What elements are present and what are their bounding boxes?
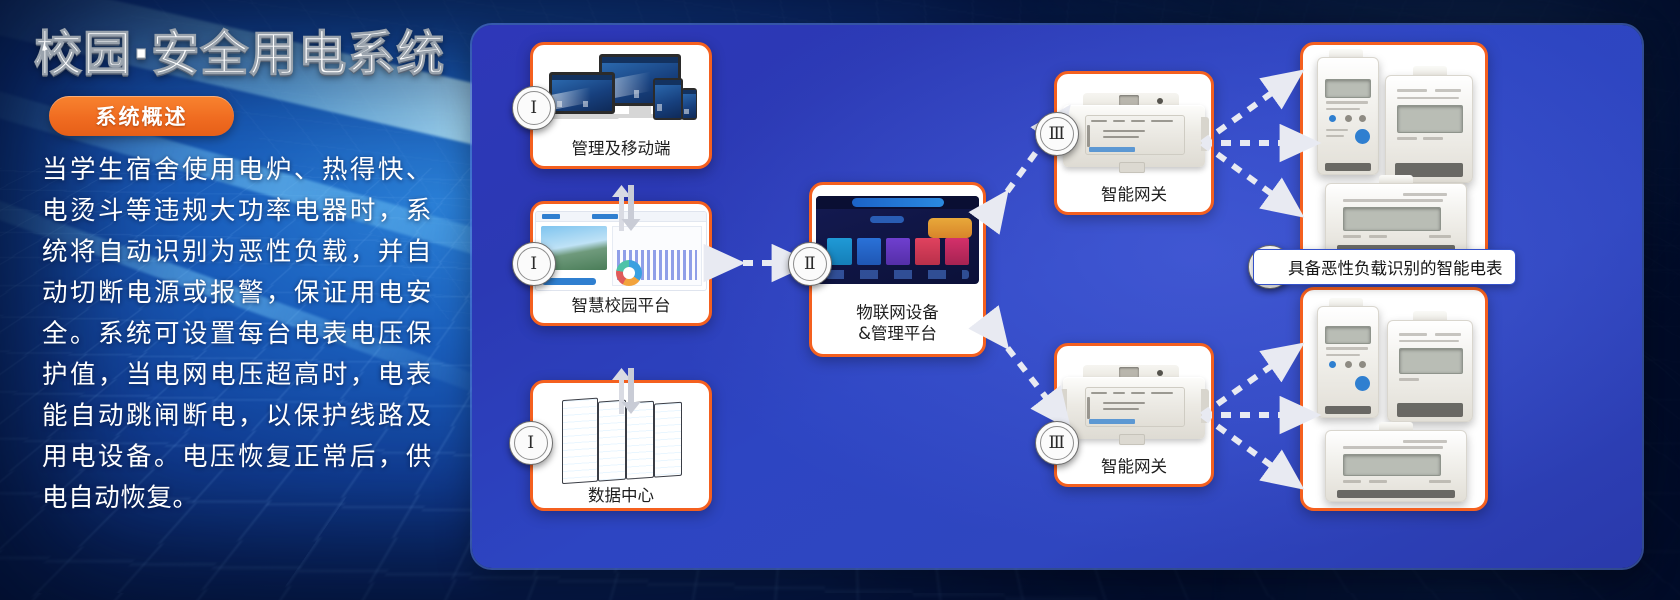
node-label: 管理及移动端 [533,138,709,159]
bidirectional-arrow-icon [610,368,644,414]
iot-dashboard-icon [812,185,983,288]
step-badge-i: Ⅰ [512,242,556,286]
node-label: 物联网设备 &管理平台 [812,302,983,344]
node-management-mobile[interactable]: 管理及移动端 [530,42,712,169]
smart-meter-note-label: 具备恶性负载识别的智能电表 [1288,255,1503,279]
smart-meter-note[interactable]: 具备恶性负载识别的智能电表 [1253,249,1516,285]
step-badge-iii: Ⅲ [1035,421,1079,465]
node-label: 智能网关 [1057,456,1211,477]
smart-meter-icon [1303,290,1485,508]
section-badge: 系统概述 [49,96,234,136]
node-smart-gateway-bottom[interactable]: 智能网关 [1054,343,1214,487]
node-smart-meters-top[interactable] [1300,42,1488,265]
step-badge-ii: Ⅱ [788,242,832,286]
step-badge-i: Ⅰ [512,86,556,130]
smart-meter-icon [1303,45,1485,262]
smart-gateway-icon [1057,346,1211,454]
smart-gateway-icon [1057,74,1211,182]
bidirectional-arrow-icon [610,185,644,231]
node-label: 数据中心 [533,485,709,506]
step-badge-iii: Ⅲ [1035,112,1079,156]
node-iot-platform[interactable]: 物联网设备 &管理平台 [809,182,986,357]
architecture-diagram-panel: 管理及移动端 Ⅰ [472,25,1642,568]
node-label: 智慧校园平台 [533,295,709,316]
node-smart-gateway-top[interactable]: 智能网关 [1054,71,1214,215]
node-label-line-2: &管理平台 [812,323,983,344]
step-badge-i: Ⅰ [509,421,553,465]
multi-device-icon [533,45,709,136]
node-label-line-1: 物联网设备 [812,302,983,323]
node-smart-meters-bottom[interactable] [1300,287,1488,511]
intro-column: 校园·安全用电系统 系统概述 当学生宿舍使用电炉、热得快、电烫斗等违规大功率电器… [0,0,470,600]
section-badge-label: 系统概述 [96,101,188,131]
node-label: 智能网关 [1057,184,1211,205]
system-overview-text: 当学生宿舍使用电炉、热得快、电烫斗等违规大功率电器时，系统将自动识别为恶性负载，… [42,150,432,519]
page-title: 校园·安全用电系统 [34,14,445,84]
